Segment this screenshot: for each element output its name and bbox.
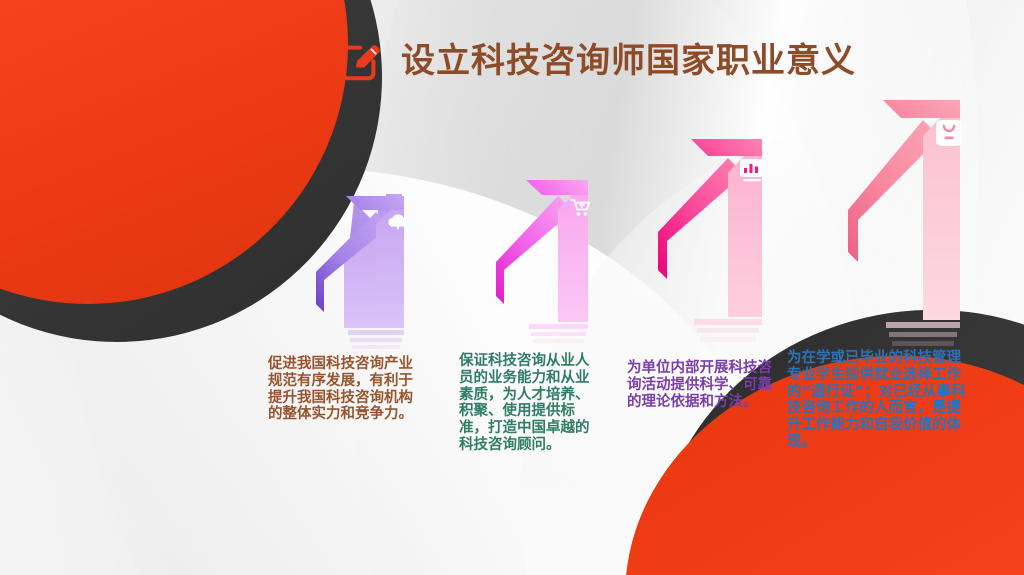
- edit-pencil-square-icon: [337, 38, 383, 84]
- column-text-2: 保证科技咨询从业人员的业务能力和从业素质，为人才培养、积聚、使用提供标准，打造中…: [459, 353, 595, 454]
- column-text-3: 为单位内部开展科技咨询活动提供科学、可靠的理论依据和方法。: [627, 360, 782, 410]
- column-text-4: 为在学或已毕业的科技管理专业学生提供就业选择工作的“通行证”；对已经从事科技咨询…: [787, 350, 967, 451]
- page-title: 设立科技咨询师国家职业意义: [401, 44, 856, 78]
- presentation-slide: 设立科技咨询师国家职业意义: [0, 0, 1024, 575]
- slide-title-row: 设立科技咨询师国家职业意义: [337, 38, 856, 84]
- column-text-1: 促进我国科技咨询产业规范有序发展，有利于提升我国科技咨询机构的整体实力和竞争力。: [268, 356, 420, 423]
